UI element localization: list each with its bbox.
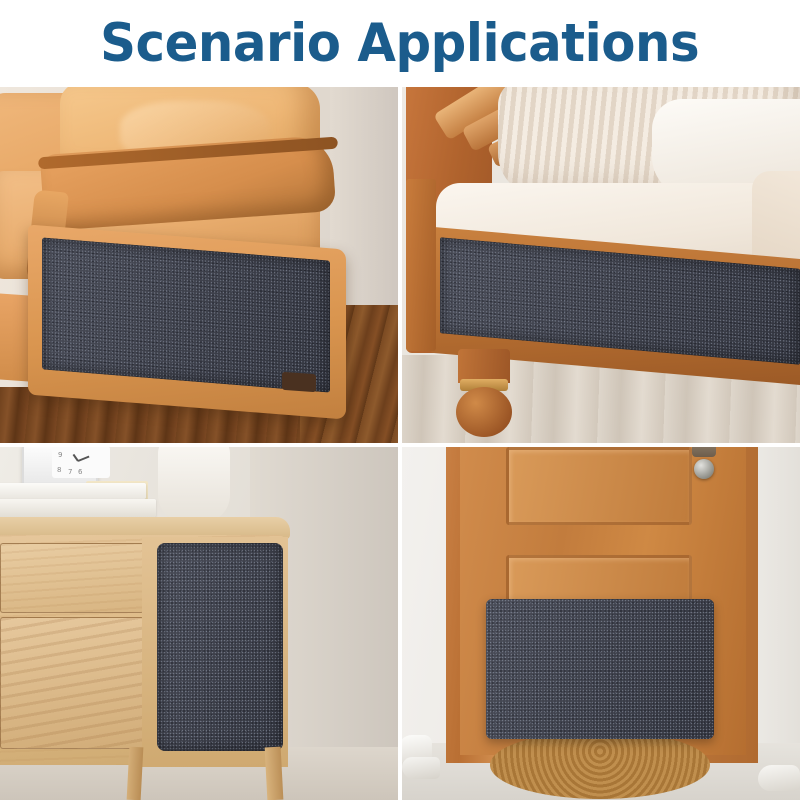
white-sneaker bbox=[758, 765, 800, 791]
clock-numeral: 8 bbox=[57, 466, 61, 474]
white-vase bbox=[158, 447, 230, 523]
white-book-stack bbox=[0, 499, 156, 517]
scenario-cell-sofas[interactable]: sofas bbox=[0, 87, 398, 443]
bed-leg-upper bbox=[458, 349, 510, 383]
door-panel-upper bbox=[506, 447, 692, 525]
cat-scratch-mat[interactable] bbox=[486, 599, 714, 739]
white-sneaker bbox=[402, 757, 440, 779]
scenario-cell-couch[interactable]: couch bbox=[402, 87, 800, 443]
nightstand-leg bbox=[127, 747, 144, 800]
product-scenario-poster: Scenario Applications sofas bbox=[0, 0, 800, 800]
clock-numeral: 7 bbox=[68, 468, 72, 476]
door-lock-icon[interactable] bbox=[694, 459, 714, 479]
bed-leg-ball-foot bbox=[456, 387, 512, 437]
clock-numeral: 9 bbox=[58, 451, 62, 459]
scenario-cell-compartment[interactable]: 9 8 7 6 compartment bbox=[0, 447, 398, 800]
round-woven-rug bbox=[490, 731, 710, 799]
page-title-bar: Scenario Applications bbox=[0, 0, 800, 87]
nightstand-drawer-upper[interactable] bbox=[0, 543, 144, 613]
bed-corner-post bbox=[406, 179, 436, 351]
white-book-stack bbox=[0, 483, 146, 499]
sofa-foot bbox=[282, 372, 316, 392]
cat-scratch-mat[interactable] bbox=[157, 543, 283, 751]
page-title: Scenario Applications bbox=[100, 17, 699, 70]
door-hinge-plate bbox=[692, 447, 716, 457]
scenario-grid: sofas couch bbox=[0, 87, 800, 800]
nightstand-drawer-lower[interactable] bbox=[0, 617, 144, 749]
scenario-cell-bedroom-door[interactable]: bedroom door bbox=[402, 447, 800, 800]
nightstand-leg bbox=[265, 747, 284, 800]
clock-numeral: 6 bbox=[78, 468, 82, 476]
cat-scratch-mat[interactable] bbox=[42, 237, 330, 392]
